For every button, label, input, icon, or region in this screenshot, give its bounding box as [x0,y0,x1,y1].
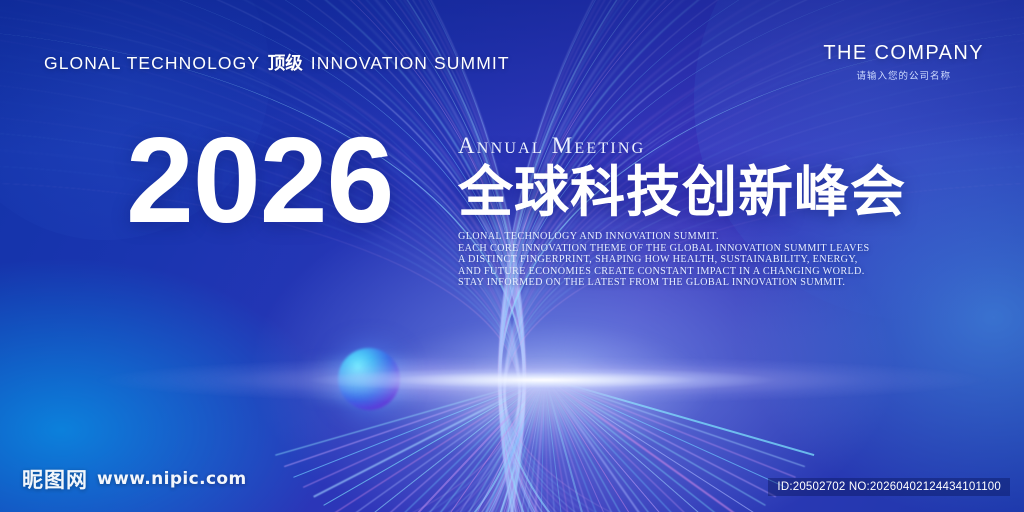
description-line: STAY INFORMED ON THE LATEST FROM THE GLO… [458,277,858,289]
company-block: THE COMPANY 请输入您的公司名称 [823,42,984,82]
poster-canvas: GLONAL TECHNOLOGY 顶级 INNOVATION SUMMIT T… [0,0,1024,512]
watermark: 昵图网 www.nipic.com [22,464,247,494]
asset-id-bar: ID:20502702 NO:20260402124434101100 [768,478,1010,496]
kicker-line: GLONAL TECHNOLOGY 顶级 INNOVATION SUMMIT [44,50,510,75]
kicker-highlight-badge: 顶级 [266,50,305,75]
description-paragraph: GLONAL TECHNOLOGY AND INNOVATION SUMMIT.… [458,231,858,289]
description-line: EACH CORE INNOVATION THEME OF THE GLOBAL… [458,243,858,255]
company-name: THE COMPANY [823,42,984,65]
watermark-url: www.nipic.com [97,469,247,489]
description-line: GLONAL TECHNOLOGY AND INNOVATION SUMMIT. [458,231,858,243]
watermark-cn-logo: 昵图网 [22,464,88,494]
year-headline: 2026 [126,119,393,241]
kicker-text-right: INNOVATION SUMMIT [311,53,510,73]
poster-content: GLONAL TECHNOLOGY 顶级 INNOVATION SUMMIT T… [0,0,1024,512]
description-line: A DISTINCT FINGERPRINT, SHAPING HOW HEAL… [458,254,858,266]
company-name-placeholder-hint: 请输入您的公司名称 [823,68,984,82]
kicker-text-left: GLONAL TECHNOLOGY [44,53,260,73]
description-line: AND FUTURE ECONOMIES CREATE CONSTANT IMP… [458,266,858,278]
annual-meeting-label: Annual Meeting [458,134,906,157]
chinese-title: 全球科技创新峰会 [458,164,906,222]
headline-block: Annual Meeting 全球科技创新峰会 [458,134,906,222]
